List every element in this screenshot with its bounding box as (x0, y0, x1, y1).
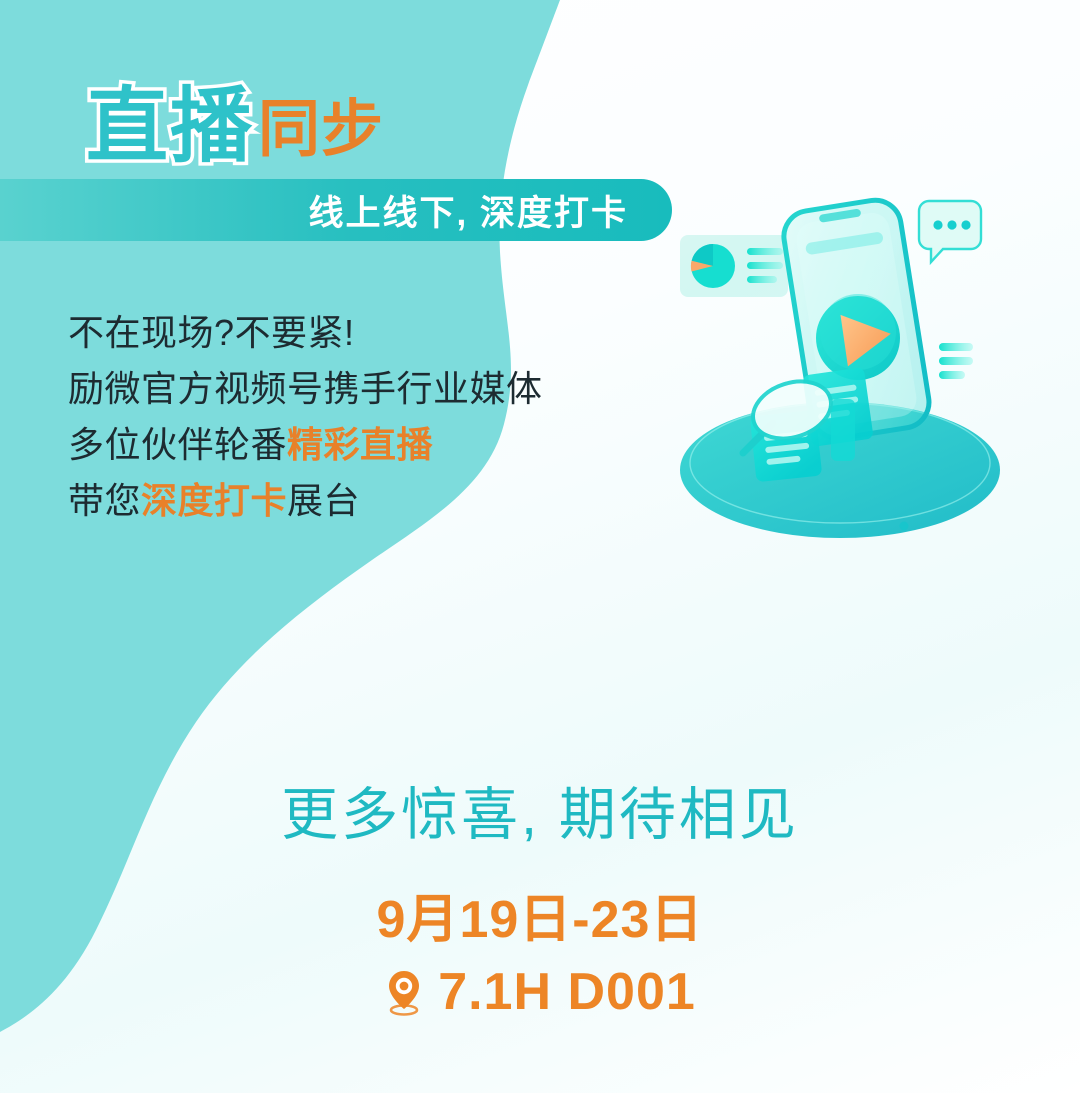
body-line-3-highlight: 精彩直播 (287, 424, 433, 465)
pie-chart-card (680, 235, 788, 297)
live-streaming-phone-illustration (655, 185, 1075, 575)
body-line-3-prefix: 多位伙伴轮番 (68, 424, 287, 465)
body-line-1: 不在现场?不要紧! (68, 305, 588, 361)
chat-bubble (919, 201, 981, 262)
closing-headline: 更多惊喜, 期待相见 (0, 780, 1080, 851)
event-venue: 7.1H D001 (0, 962, 1080, 1022)
closing-block: 更多惊喜, 期待相见 9月19日-23日 7.1H D001 (0, 780, 1080, 1022)
subtitle-banner: 线上线下, 深度打卡 (0, 179, 672, 241)
body-line-4-suffix: 展台 (287, 480, 360, 521)
pie-chart-icon (691, 244, 735, 288)
body-line-4-highlight: 深度打卡 (141, 480, 287, 521)
title-accent: 同步 (258, 99, 384, 161)
body-line-4: 带您深度打卡展台 (68, 473, 588, 529)
venue-text: 7.1H D001 (438, 962, 696, 1022)
poster-canvas: 直播 同步 线上线下, 深度打卡 不在现场?不要紧! 励微官方视频号携手行业媒体… (0, 0, 1080, 1093)
body-line-1-text: 不在现场?不要紧! (68, 312, 355, 353)
body-line-2: 励微官方视频号携手行业媒体 (68, 361, 588, 417)
body-line-3: 多位伙伴轮番精彩直播 (68, 417, 588, 473)
body-line-2-text: 励微官方视频号携手行业媒体 (68, 368, 543, 409)
body-copy: 不在现场?不要紧! 励微官方视频号携手行业媒体 多位伙伴轮番精彩直播 带您深度打… (68, 305, 588, 529)
event-date: 9月19日-23日 (0, 877, 1080, 952)
location-pin-icon (384, 968, 424, 1016)
title-row: 直播 同步 (86, 86, 384, 168)
floating-text-bars (939, 343, 973, 379)
subtitle-text: 线上线下, 深度打卡 (309, 185, 646, 236)
title-main: 直播 (86, 86, 254, 168)
body-line-4-prefix: 带您 (68, 480, 141, 521)
